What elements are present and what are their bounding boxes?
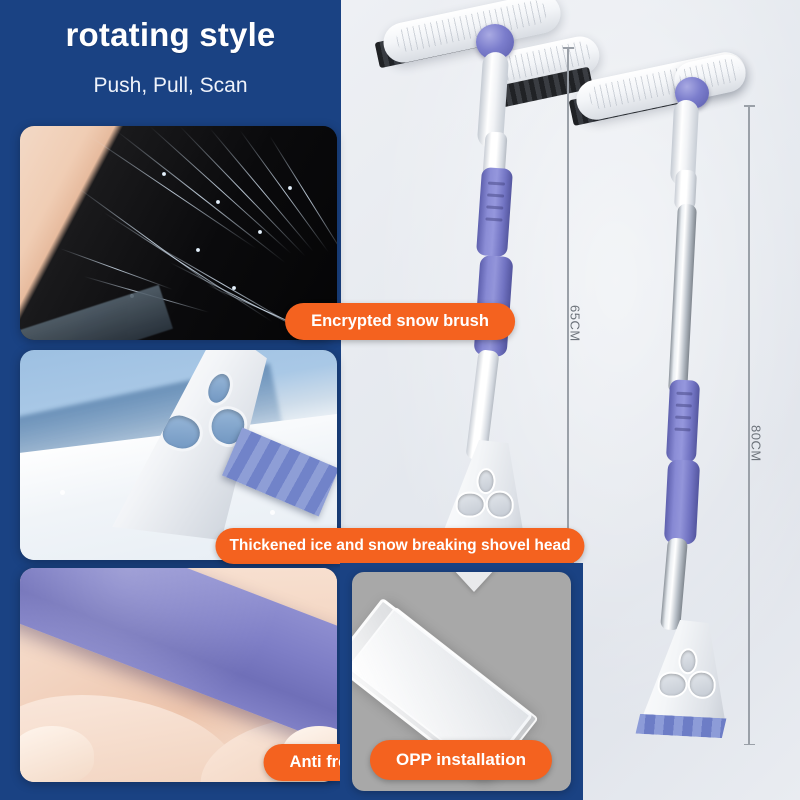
purple-upper-grip-right <box>666 379 700 462</box>
caption-shovel-head: Thickened ice and snow breaking shovel h… <box>215 528 584 564</box>
dimension-label-65cm: 65CM <box>568 305 583 342</box>
product-infographic: 65CM 80CM rotating style <box>0 0 800 800</box>
caption-encrypted-snow-brush: Encrypted snow brush <box>285 303 515 340</box>
scraper-hole-1 <box>657 671 688 698</box>
down-arrow-icon <box>452 572 496 592</box>
page-title: rotating style <box>0 16 341 54</box>
purple-upper-grip-left <box>476 167 513 257</box>
scraper-hole-3 <box>678 648 698 675</box>
page-subtitle: Push, Pull, Scan <box>0 74 341 98</box>
scraper-hole-2 <box>485 490 514 519</box>
dimension-label-80cm: 80CM <box>749 425 764 462</box>
sponge-grip-right <box>664 459 700 545</box>
scraper-hole-1 <box>455 491 486 518</box>
scraper-hole-2 <box>687 670 716 699</box>
caption-opp-installation: OPP installation <box>370 740 552 780</box>
scraper-hole-3 <box>476 468 496 495</box>
